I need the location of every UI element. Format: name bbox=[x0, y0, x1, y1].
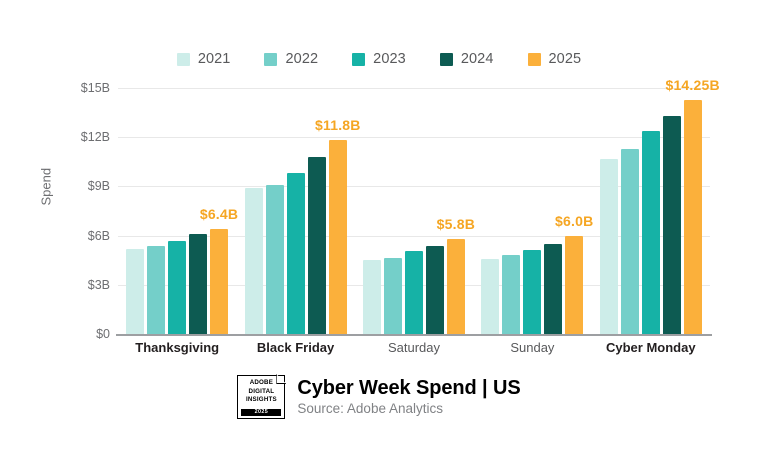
bars bbox=[363, 88, 465, 334]
value-label-saturday: $5.8B bbox=[437, 216, 475, 232]
adobe-digital-insights-logo: ADOBE DIGITAL INSIGHTS 2025 bbox=[237, 375, 285, 419]
chart-source: Source: Adobe Analytics bbox=[297, 401, 520, 417]
badge-text: ADOBE DIGITAL INSIGHTS bbox=[237, 379, 285, 405]
badge-line-insights: INSIGHTS bbox=[237, 396, 285, 405]
bar-group-sunday: $6.0B bbox=[481, 88, 583, 334]
value-label-black-friday: $11.8B bbox=[315, 117, 361, 133]
bar-2021-saturday[interactable] bbox=[363, 260, 381, 334]
x-axis-label-cyber-monday: Cyber Monday bbox=[571, 340, 731, 355]
value-label-cyber-monday: $14.25B bbox=[665, 77, 719, 93]
bar-group-saturday: $5.8B bbox=[363, 88, 465, 334]
x-axis-line bbox=[116, 334, 712, 336]
chart-card: 20212022202320242025 Spend $0$3B$6B$9B$1… bbox=[0, 0, 758, 474]
bar-2025-thanksgiving[interactable] bbox=[210, 229, 228, 334]
bar-2022-saturday[interactable] bbox=[384, 258, 402, 334]
bar-2024-sunday[interactable] bbox=[544, 244, 562, 334]
bar-2025-sunday[interactable] bbox=[565, 236, 583, 334]
bar-2022-black-friday[interactable] bbox=[266, 185, 284, 334]
bar-2021-black-friday[interactable] bbox=[245, 188, 263, 334]
bar-2021-thanksgiving[interactable] bbox=[126, 249, 144, 334]
value-label-thanksgiving: $6.4B bbox=[200, 206, 238, 222]
bar-2022-cyber-monday[interactable] bbox=[621, 149, 639, 334]
bar-2023-cyber-monday[interactable] bbox=[642, 131, 660, 334]
value-label-sunday: $6.0B bbox=[555, 213, 593, 229]
bar-2024-saturday[interactable] bbox=[426, 246, 444, 334]
footer-text-block: Cyber Week Spend | US Source: Adobe Anal… bbox=[297, 377, 520, 417]
bar-2024-cyber-monday[interactable] bbox=[663, 116, 681, 334]
y-tick-label: $12B bbox=[50, 130, 110, 144]
bar-group-thanksgiving: $6.4B bbox=[126, 88, 228, 334]
bar-2023-saturday[interactable] bbox=[405, 251, 423, 334]
bar-group-cyber-monday: $14.25B bbox=[600, 88, 702, 334]
bar-2024-thanksgiving[interactable] bbox=[189, 234, 207, 334]
y-tick-label: $0 bbox=[50, 327, 110, 341]
chart-footer: ADOBE DIGITAL INSIGHTS 2025 Cyber Week S… bbox=[0, 375, 758, 419]
badge-line-adobe: ADOBE bbox=[237, 379, 285, 388]
badge-year: 2025 bbox=[241, 409, 281, 416]
bar-2024-black-friday[interactable] bbox=[308, 157, 326, 334]
bars bbox=[481, 88, 583, 334]
bar-2023-thanksgiving[interactable] bbox=[168, 241, 186, 334]
bar-group-black-friday: $11.8B bbox=[245, 88, 347, 334]
plot-area: $6.4BThanksgiving$11.8BBlack Friday$5.8B… bbox=[118, 88, 710, 334]
badge-line-digital: DIGITAL bbox=[237, 388, 285, 397]
y-tick-label: $15B bbox=[50, 81, 110, 95]
bar-2025-saturday[interactable] bbox=[447, 239, 465, 334]
y-tick-label: $9B bbox=[50, 179, 110, 193]
bar-2025-black-friday[interactable] bbox=[329, 140, 347, 334]
bar-2021-cyber-monday[interactable] bbox=[600, 159, 618, 334]
bar-2025-cyber-monday[interactable] bbox=[684, 100, 702, 334]
y-tick-label: $3B bbox=[50, 278, 110, 292]
y-tick-label: $6B bbox=[50, 229, 110, 243]
bars bbox=[600, 88, 702, 334]
bar-2022-thanksgiving[interactable] bbox=[147, 246, 165, 334]
chart-title: Cyber Week Spend | US bbox=[297, 377, 520, 400]
bar-2023-sunday[interactable] bbox=[523, 250, 541, 334]
bar-2023-black-friday[interactable] bbox=[287, 173, 305, 334]
bar-2022-sunday[interactable] bbox=[502, 255, 520, 334]
bar-2021-sunday[interactable] bbox=[481, 259, 499, 334]
